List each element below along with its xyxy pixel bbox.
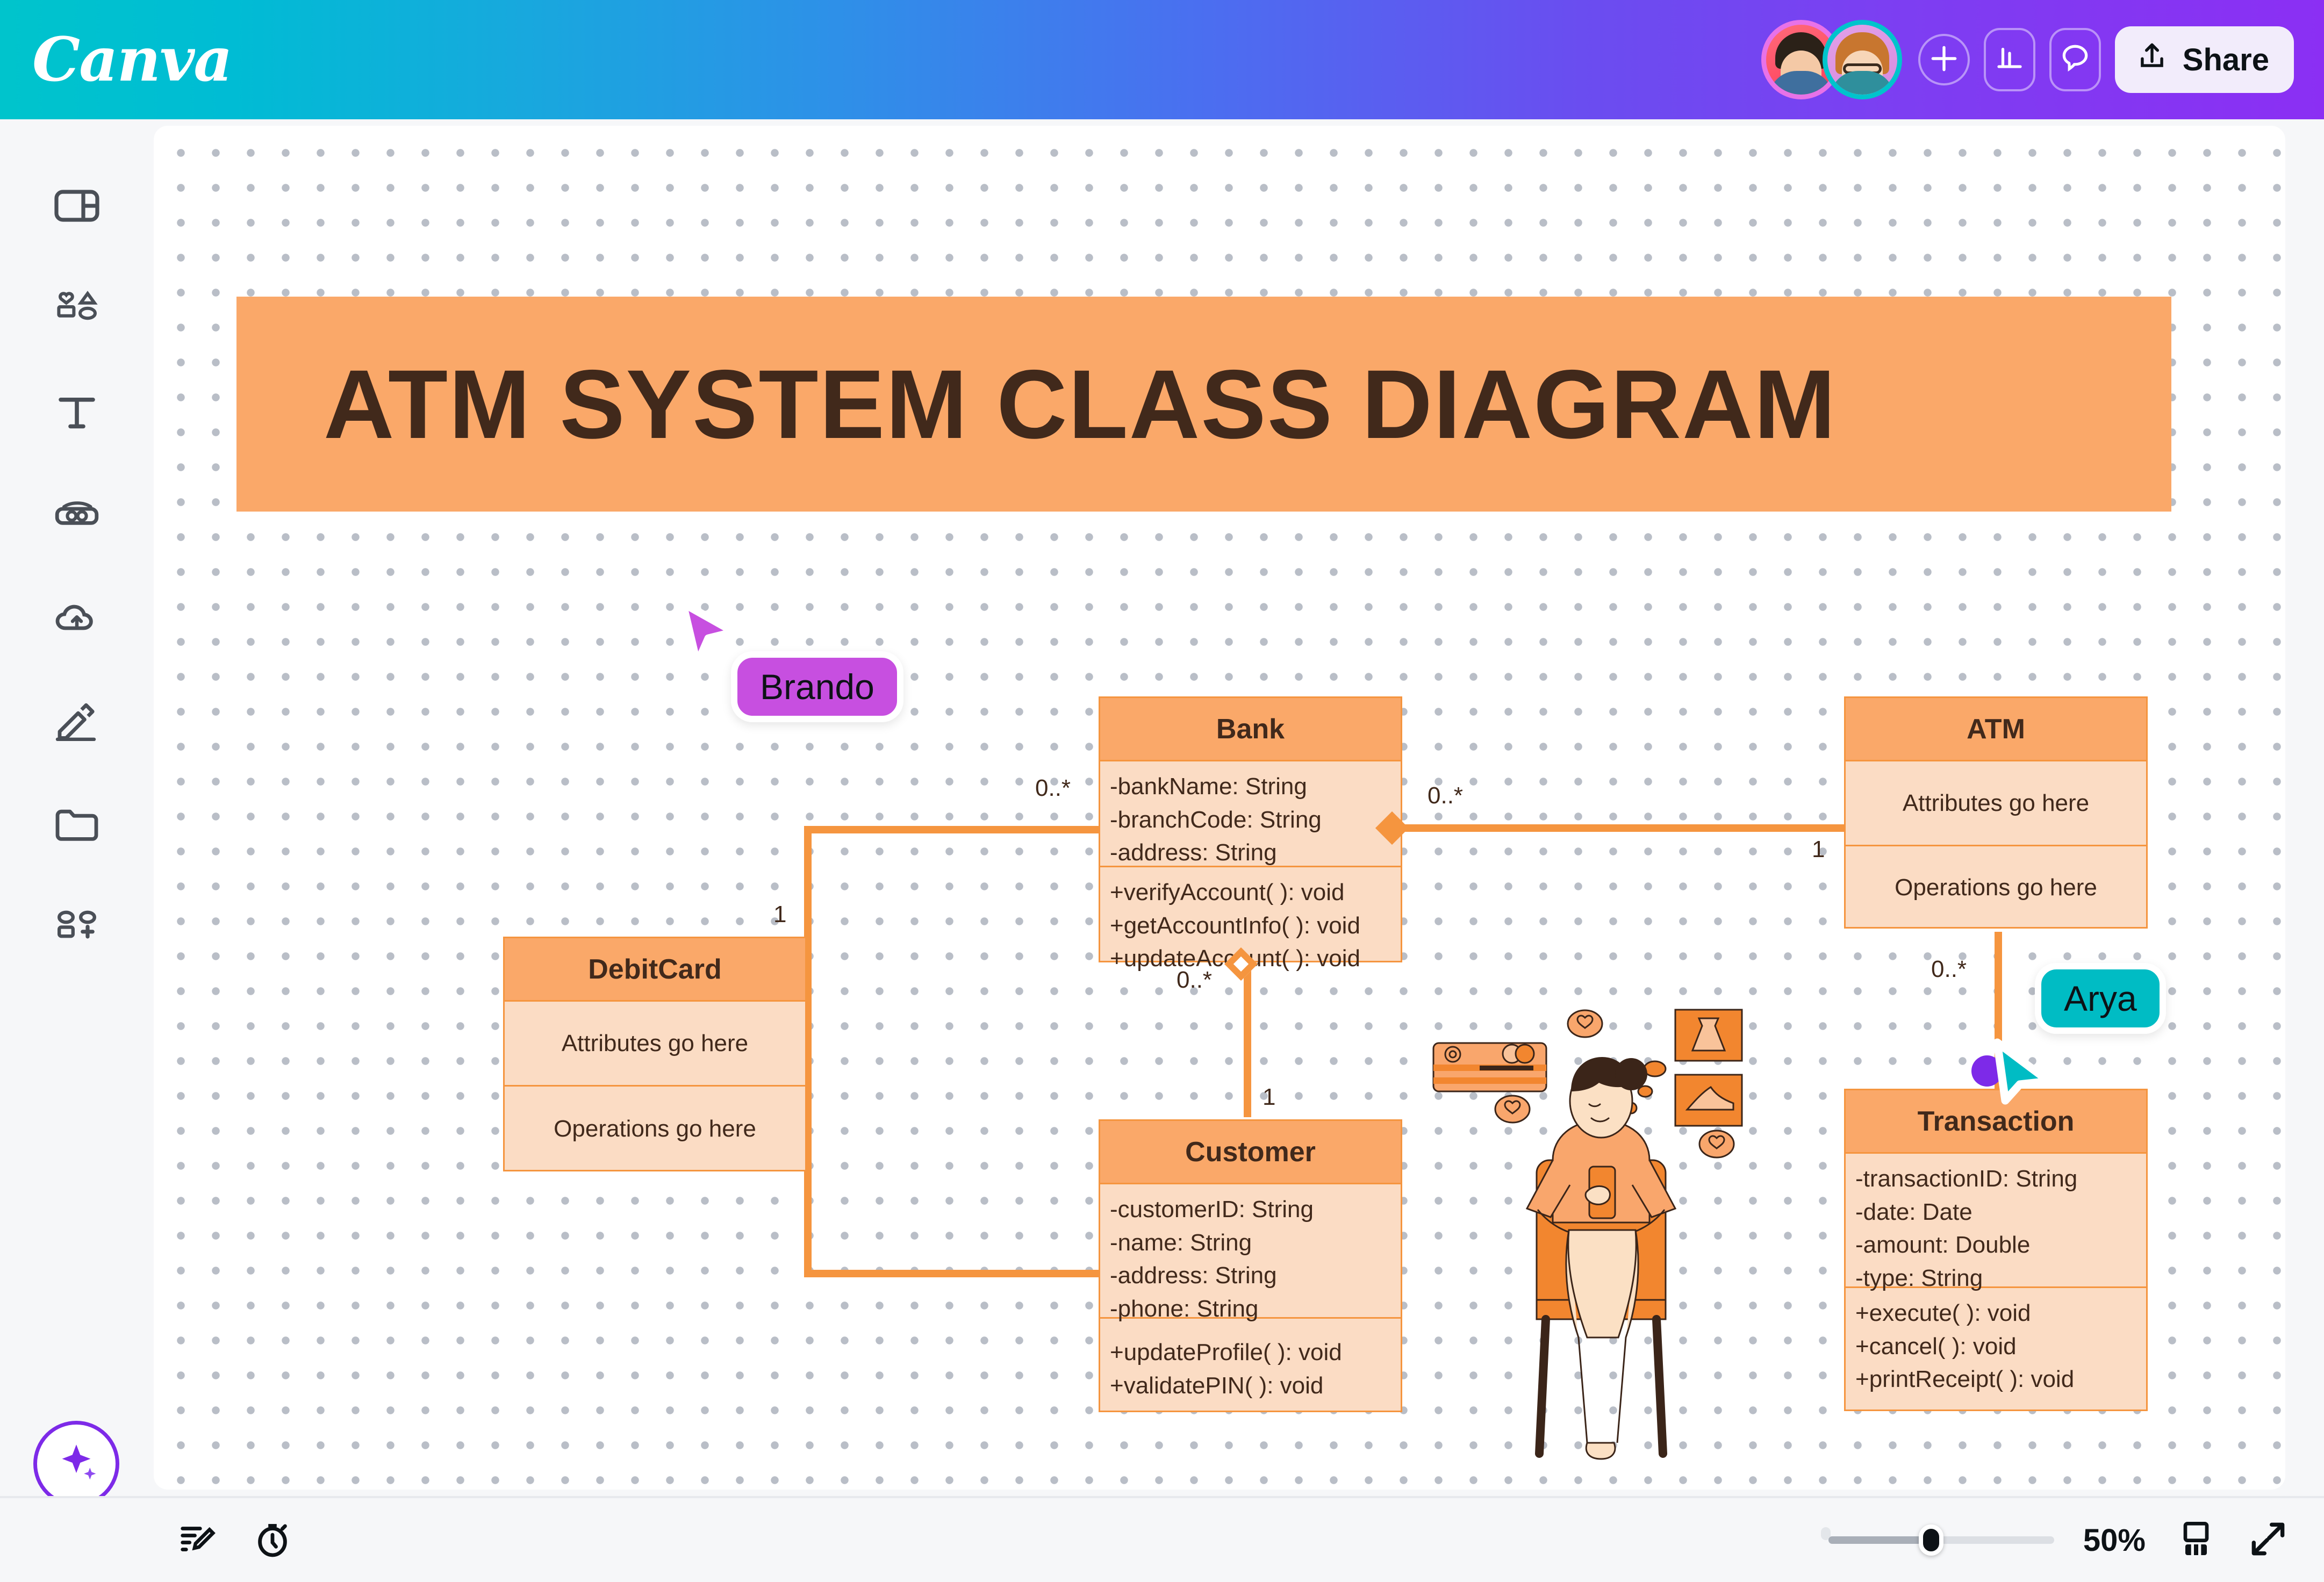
uml-attribute: -date: Date bbox=[1855, 1196, 2137, 1229]
multiplicity-label: 1 bbox=[1263, 1084, 1275, 1111]
uml-operations-section: +verifyAccount( ): void +getAccountInfo(… bbox=[1100, 867, 1401, 962]
uml-attribute: Attributes go here bbox=[1903, 787, 2089, 820]
cursor-arya bbox=[1981, 1026, 2062, 1110]
top-bar-actions: Share bbox=[1761, 20, 2294, 99]
cloud-upload-icon bbox=[51, 593, 103, 647]
sidebar-item-elements[interactable] bbox=[37, 270, 117, 350]
sidebar-item-brand[interactable] bbox=[37, 476, 117, 557]
left-sidebar bbox=[0, 119, 154, 1582]
design-page[interactable]: ATM SYSTEM CLASS DIAGRAM 0..* 1 0..* 1 0… bbox=[154, 126, 2285, 1490]
uml-operation: +getAccountInfo( ): void bbox=[1110, 909, 1392, 943]
title-banner[interactable]: ATM SYSTEM CLASS DIAGRAM bbox=[236, 297, 2171, 512]
uml-attributes-section: -customerID: String -name: String -addre… bbox=[1100, 1184, 1401, 1319]
uml-operations-section: +execute( ): void +cancel( ): void +prin… bbox=[1846, 1288, 2146, 1411]
comments-button[interactable] bbox=[2049, 28, 2101, 91]
pen-icon bbox=[51, 696, 103, 750]
uml-operation: +validatePIN( ): void bbox=[1110, 1369, 1392, 1403]
uml-attribute: -customerID: String bbox=[1110, 1193, 1392, 1226]
uml-class-title: Bank bbox=[1100, 698, 1401, 761]
bottom-bar-left bbox=[177, 1518, 293, 1563]
top-bar: Canva bbox=[0, 0, 2324, 119]
sidebar-item-design[interactable] bbox=[37, 167, 117, 247]
uml-attribute: -amount: Double bbox=[1855, 1228, 2137, 1262]
upload-icon bbox=[2135, 39, 2169, 80]
apps-grid-plus-icon bbox=[51, 902, 103, 957]
uml-operation: +execute( ): void bbox=[1855, 1297, 2137, 1330]
sidebar-item-projects[interactable] bbox=[37, 786, 117, 866]
uml-operations-section: Operations go here bbox=[505, 1087, 805, 1171]
uml-attribute: -bankName: String bbox=[1110, 770, 1392, 803]
cursor-label-arya: Arya bbox=[2035, 963, 2166, 1034]
multiplicity-label: 0..* bbox=[1428, 782, 1463, 809]
share-button[interactable]: Share bbox=[2115, 26, 2294, 93]
insights-button[interactable] bbox=[1984, 28, 2035, 91]
uml-operations-section: +updateProfile( ): void +validatePIN( ):… bbox=[1100, 1319, 1401, 1412]
connector-bank-customer-h-bottom bbox=[804, 1270, 1105, 1277]
bottom-bar-right: 50% bbox=[1828, 1518, 2290, 1563]
cursor-label-brando: Brando bbox=[731, 651, 903, 722]
uml-attribute: -name: String bbox=[1110, 1226, 1392, 1260]
collaborator-avatars bbox=[1761, 20, 1902, 99]
connector-bank-customer-h-top bbox=[804, 826, 1105, 833]
add-people-button[interactable] bbox=[1918, 34, 1970, 85]
canvas-area[interactable]: ATM SYSTEM CLASS DIAGRAM 0..* 1 0..* 1 0… bbox=[154, 119, 2324, 1496]
slider-knob[interactable] bbox=[1919, 1525, 1943, 1556]
sidebar-item-draw[interactable] bbox=[37, 682, 117, 763]
bar-chart-icon bbox=[1993, 42, 2026, 77]
share-button-label: Share bbox=[2183, 42, 2269, 78]
uml-class-bank[interactable]: Bank -bankName: String -branchCode: Stri… bbox=[1099, 696, 1402, 962]
uml-class-atm[interactable]: ATM Attributes go here Operations go her… bbox=[1844, 696, 2148, 929]
avatar-body bbox=[1830, 71, 1895, 99]
uml-attribute: -address: String bbox=[1110, 1259, 1392, 1292]
uml-class-title: DebitCard bbox=[505, 938, 805, 1002]
plus-icon bbox=[1927, 42, 1961, 78]
multiplicity-label: 1 bbox=[1812, 836, 1825, 863]
uml-operation: +cancel( ): void bbox=[1855, 1330, 2137, 1363]
uml-class-customer[interactable]: Customer -customerID: String -name: Stri… bbox=[1099, 1119, 1402, 1412]
uml-attribute: Attributes go here bbox=[562, 1027, 748, 1060]
uml-attributes-section: -transactionID: String -date: Date -amou… bbox=[1846, 1154, 2146, 1288]
avatar-body bbox=[1769, 71, 1833, 99]
slider-fill bbox=[1828, 1536, 1930, 1544]
uml-attributes-section: -bankName: String -branchCode: String -a… bbox=[1100, 761, 1401, 867]
uml-operation: Operations go here bbox=[1895, 871, 2097, 904]
multiplicity-label: 0..* bbox=[1177, 967, 1212, 994]
comment-bubble-icon bbox=[2058, 42, 2092, 78]
uml-class-debitcard[interactable]: DebitCard Attributes go here Operations … bbox=[503, 937, 807, 1171]
layout-panel-icon bbox=[51, 180, 103, 234]
avatar[interactable] bbox=[1823, 20, 1902, 99]
page-grid-icon[interactable] bbox=[2175, 1518, 2218, 1563]
uml-class-transaction[interactable]: Transaction -transactionID: String -date… bbox=[1844, 1089, 2148, 1411]
brand-stamp-icon bbox=[51, 490, 103, 544]
uml-operation: +verifyAccount( ): void bbox=[1110, 876, 1392, 909]
page-title: ATM SYSTEM CLASS DIAGRAM bbox=[324, 348, 1837, 461]
shapes-icon bbox=[51, 283, 103, 337]
zoom-level-label[interactable]: 50% bbox=[2083, 1522, 2146, 1558]
uml-attribute: -address: String bbox=[1110, 836, 1392, 869]
sidebar-item-uploads[interactable] bbox=[37, 579, 117, 660]
timer-icon[interactable] bbox=[252, 1518, 293, 1563]
sidebar-item-apps[interactable] bbox=[37, 889, 117, 969]
uml-class-title: ATM bbox=[1846, 698, 2146, 761]
magic-sparkle-icon bbox=[52, 1438, 101, 1490]
magic-ai-button[interactable] bbox=[33, 1421, 119, 1507]
uml-attributes-section: Attributes go here bbox=[1846, 761, 2146, 846]
multiplicity-label: 0..* bbox=[1035, 775, 1071, 802]
woman-shopping-online-illustration[interactable] bbox=[1430, 999, 1753, 1466]
bottom-bar: 50% bbox=[0, 1496, 2324, 1582]
uml-class-title: Customer bbox=[1100, 1121, 1401, 1184]
folder-icon bbox=[51, 799, 103, 853]
uml-attribute: -transactionID: String bbox=[1855, 1162, 2137, 1196]
text-t-icon bbox=[51, 386, 103, 441]
uml-operation: Operations go here bbox=[554, 1112, 756, 1146]
uml-attribute: -branchCode: String bbox=[1110, 803, 1392, 837]
uml-operations-section: Operations go here bbox=[1846, 846, 2146, 929]
expand-arrows-icon[interactable] bbox=[2247, 1518, 2290, 1563]
zoom-slider[interactable] bbox=[1828, 1524, 2054, 1556]
sidebar-item-text[interactable] bbox=[37, 373, 117, 454]
notes-edit-icon[interactable] bbox=[177, 1518, 219, 1563]
uml-operation: +printReceipt( ): void bbox=[1855, 1363, 2137, 1396]
canva-logo[interactable]: Canva bbox=[32, 25, 232, 95]
multiplicity-label: 0..* bbox=[1931, 956, 1967, 983]
multiplicity-label: 1 bbox=[773, 901, 786, 928]
uml-operation: +updateProfile( ): void bbox=[1110, 1336, 1392, 1369]
connector-bank-customer-v2 bbox=[1244, 967, 1251, 1117]
uml-attributes-section: Attributes go here bbox=[505, 1002, 805, 1087]
connector-bank-atm bbox=[1390, 824, 1852, 832]
